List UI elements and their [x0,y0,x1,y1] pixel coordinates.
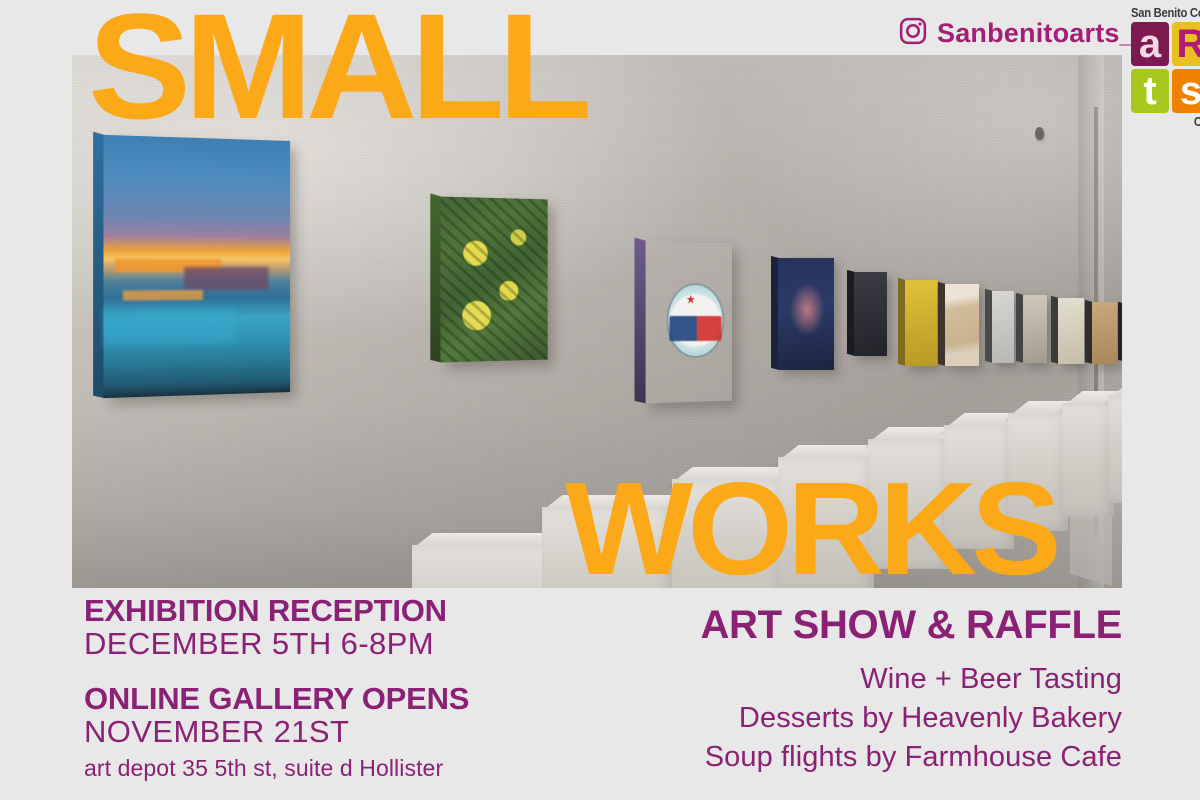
logo-letter-s: s [1172,69,1200,113]
canvas-face [645,241,732,404]
pedestal [1108,383,1122,503]
artwork-small [1023,295,1047,363]
logo-top-text: San Benito Co [1131,6,1200,20]
wall-nail [1035,127,1044,140]
logo-bottom-text: Cou [1139,115,1200,129]
headline-small: SMALL [88,8,585,125]
instagram-icon [898,16,928,51]
artwork-lemon-tree [440,197,547,363]
artwork-small [905,280,937,366]
canvas-face [103,135,290,398]
event-details-right: ART SHOW & RAFFLE Wine + Beer Tasting De… [700,604,1122,777]
online-gallery-date: NOVEMBER 21ST [84,715,469,750]
artwork-small [945,284,979,366]
artwork-sprite-bottlecap [645,241,732,404]
logo-letter-r: R [1172,22,1200,66]
instagram-block[interactable]: Sanbenitoarts_ [898,16,1135,51]
instagram-handle: Sanbenitoarts_ [937,18,1135,49]
venue-address: art depot 35 5th st, suite d Hollister [84,755,469,783]
logo-letter-t: t [1131,69,1169,113]
spacer [84,662,469,683]
artwork-blue-sunset-landscape [103,135,290,398]
logo-letter-a: a [1131,22,1169,66]
artwork-small [778,258,834,370]
amenity-item: Wine + Beer Tasting [700,660,1122,699]
amenity-item: Desserts by Heavenly Bakery [700,699,1122,738]
poster: SMALL WORKS Sanbenitoarts_ San Benito Co… [0,0,1200,800]
online-gallery-label: ONLINE GALLERY OPENS [84,683,469,715]
amenities-list: Wine + Beer Tasting Desserts by Heavenly… [700,660,1122,777]
pedestal [412,533,557,588]
event-details-left: EXHIBITION RECEPTION DECEMBER 5TH 6-8PM … [84,595,469,783]
logo-letter-grid: a R t s [1131,22,1200,113]
reception-label: EXHIBITION RECEPTION [84,595,469,627]
subheadline: ART SHOW & RAFFLE [700,604,1122,646]
artwork-small [1058,298,1084,364]
canvas-face [440,197,547,363]
pedestal [1062,391,1114,517]
headline-works: WORKS [565,478,1056,581]
artwork-small [992,291,1014,363]
reception-date: DECEMBER 5TH 6-8PM [84,627,469,662]
amenity-item: Soup flights by Farmhouse Cafe [700,738,1122,777]
san-benito-arts-council-logo: San Benito Co a R t s Cou [1131,6,1200,129]
artwork-small [1092,302,1117,364]
artwork-small [854,272,887,356]
